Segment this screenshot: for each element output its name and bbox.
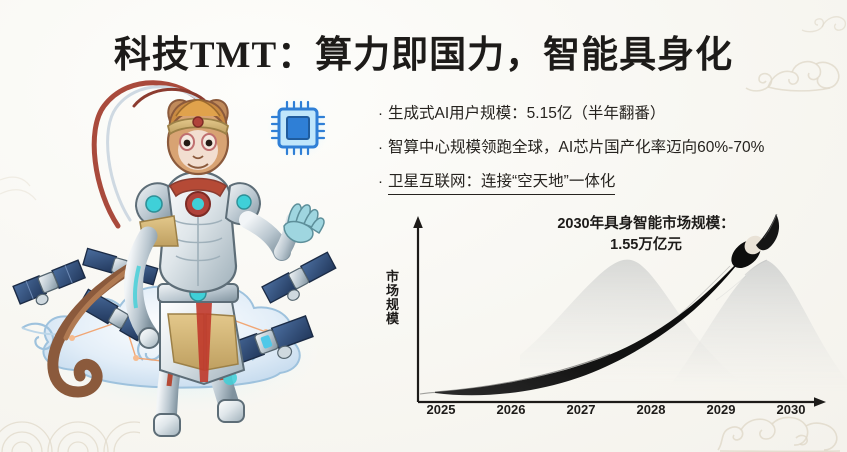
bullet-marker: ·: [378, 172, 383, 192]
bullet-text: 智算中心规模领跑全球，AI芯片国产化率迈向60%-70%: [388, 138, 764, 159]
armor-skirt: [158, 298, 244, 384]
x-tick-label: 2028: [616, 402, 686, 417]
slide-canvas: 科技TMT：算力即国力，智能具身化 · 生成式AI用户规模：5.15亿（半年翻番…: [0, 0, 847, 452]
bullet-item-1: · 生成式AI用户规模：5.15亿（半年翻番）: [378, 104, 828, 125]
chart-x-tick-labels: 2025 2026 2027 2028 2029 2030: [406, 402, 826, 417]
monkey-head: [168, 100, 228, 174]
x-tick-label: 2026: [476, 402, 546, 417]
growth-chart: 2030年具身智能市场规模： 1.55万亿元 市 场 规 模: [378, 212, 833, 437]
bullet-marker: ·: [378, 104, 383, 124]
chart-brush-head: [726, 214, 779, 274]
x-tick-label: 2027: [546, 402, 616, 417]
bullet-marker: ·: [378, 138, 383, 158]
bullet-list: · 生成式AI用户规模：5.15亿（半年翻番） · 智算中心规模领跑全球，AI芯…: [378, 104, 828, 208]
x-tick-label: 2030: [756, 402, 826, 417]
bullet-item-2: · 智算中心规模领跑全球，AI芯片国产化率迈向60%-70%: [378, 138, 828, 159]
x-tick-label: 2025: [406, 402, 476, 417]
bullet-text: 卫星互联网：连接“空天地”一体化: [388, 172, 615, 195]
bullet-text: 生成式AI用户规模：5.15亿（半年翻番）: [388, 104, 665, 125]
monkey-king-illustration: [8, 70, 368, 442]
chart-brush-curve: [420, 256, 744, 395]
chart-y-axis: [413, 216, 423, 402]
cpu-chip-icon: [264, 94, 332, 162]
x-tick-label: 2029: [686, 402, 756, 417]
bullet-item-3: · 卫星互联网：连接“空天地”一体化: [378, 172, 828, 195]
right-hand: [284, 204, 324, 242]
